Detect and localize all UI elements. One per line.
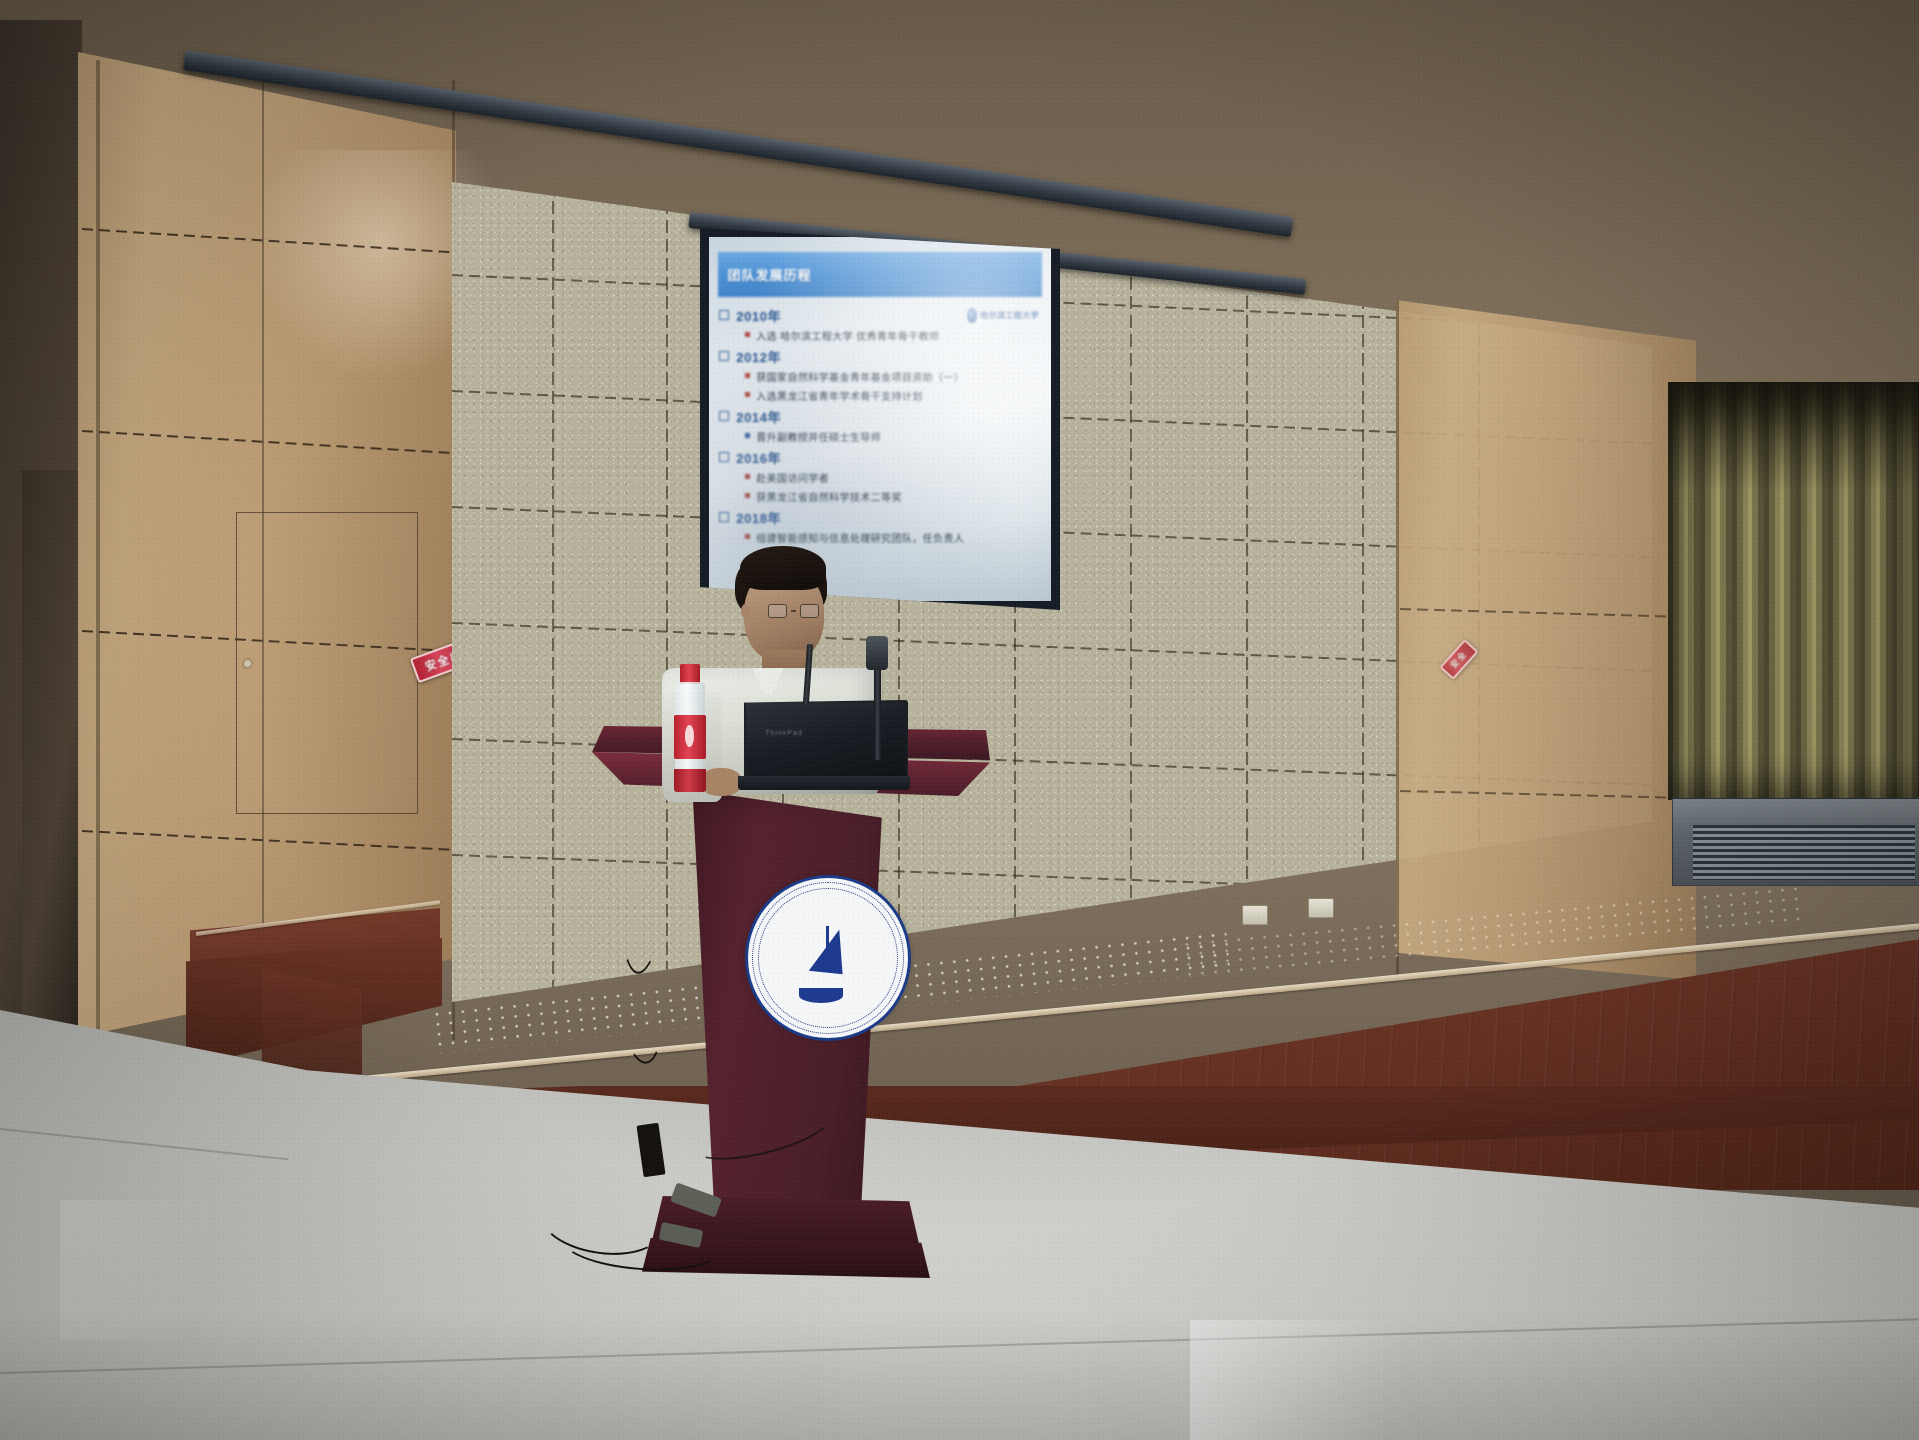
slide-heading: 2012年 [719,347,1041,366]
photograph-scene: 安全出口 安全 [0,0,1919,1440]
slide-sub-text: 入选 哈尔滨工程大学 优秀青年骨干教师 [756,328,939,343]
screen-surface: 团队发展历程 哈尔滨工程大学 2010年 入选 哈尔滨工程大学 优秀青年骨干教师 [709,237,1051,601]
slide-sub-item: 获国家自然科学基金青年基金项目资助（一） [745,369,1041,384]
slide-title-bar: 团队发展历程 [718,252,1043,298]
laptop-screen[interactable]: ThinkPad [744,700,908,786]
presentation-slide: 团队发展历程 哈尔滨工程大学 2010年 入选 哈尔滨工程大学 优秀青年骨干教师 [709,237,1051,601]
eyeglasses-left-lens [768,604,787,618]
slide-sub-text: 获黑龙江省自然科学技术二等奖 [756,489,902,504]
slide-sub-item: 获黑龙江省自然科学技术二等奖 [745,489,1041,504]
laptop-brand-mark: ThinkPad [765,730,803,737]
slide-square-bullet [719,452,729,462]
bottle-label [674,715,706,759]
slide-sub-text: 获国家自然科学基金青年基金项目资助（一） [756,369,964,384]
microphone-head[interactable] [866,636,888,670]
presenter-hair-top [740,546,826,590]
wall-switch[interactable] [1308,898,1334,918]
slide-sub-item: 晋升副教授并任硕士生导师 [745,429,1041,444]
eyeglasses-right-lens [800,604,819,618]
slide-title: 团队发展历程 [728,265,812,284]
air-conditioner-unit [1672,798,1919,886]
slide-sub-item: 赴美国访问学者 [745,470,1041,485]
bottle-bottom [674,769,706,792]
slide-heading: 2016年 [719,448,1041,467]
laptop-base[interactable] [738,776,910,790]
slide-square-bullet [719,512,729,522]
slide-square-bullet [719,411,729,421]
university-emblem [748,878,908,1038]
presenter-ear [741,604,750,618]
slide-bullet [745,534,750,539]
slide-sub-text: 赴美国访问学者 [756,470,829,485]
slide-heading: 2014年 [719,407,1041,426]
wall-panel-wood-right [1396,300,1696,980]
eyeglasses-bridge [791,610,796,612]
slide-bullet [745,474,750,479]
wall-access-panel[interactable] [236,512,418,814]
slide-square-bullet [719,351,729,361]
slide-heading: 2018年 [719,508,1041,527]
slide-heading-text: 2018年 [736,508,781,527]
slide-sub-text: 入选黑龙江省青年学术骨干支持计划 [756,388,922,403]
slide-sub-text: 晋升副教授并任硕士生导师 [756,429,881,444]
slide-bullet [745,392,750,397]
slide-heading-text: 2010年 [736,306,781,325]
microphone-stem [874,660,881,760]
emblem-wave-icon [799,988,843,1003]
slide-heading-text: 2012年 [736,347,781,366]
wall-switch[interactable] [1242,905,1268,925]
water-bottle[interactable] [672,664,708,792]
slide-sub-item: 入选黑龙江省青年学术骨干支持计划 [745,388,1041,403]
slide-heading-text: 2014年 [736,407,781,426]
side-door[interactable] [22,470,80,1030]
slide-sub-item: 入选 哈尔滨工程大学 优秀青年骨干教师 [745,328,1041,343]
slide-bullet [745,493,750,498]
slide-sub-text: 组建智能感知与信息处理研究团队，任负责人 [756,530,964,545]
slide-heading-text: 2016年 [736,448,781,467]
slide-sub-item: 组建智能感知与信息处理研究团队，任负责人 [745,530,1041,545]
slide-heading: 2010年 [719,306,1041,325]
eyeglasses-icon [768,604,819,618]
slide-bullet [745,373,750,378]
slide-square-bullet [719,310,729,320]
emblem-sail-icon [809,927,847,974]
slide-bullet [745,433,750,438]
slide-bullet [745,332,750,337]
